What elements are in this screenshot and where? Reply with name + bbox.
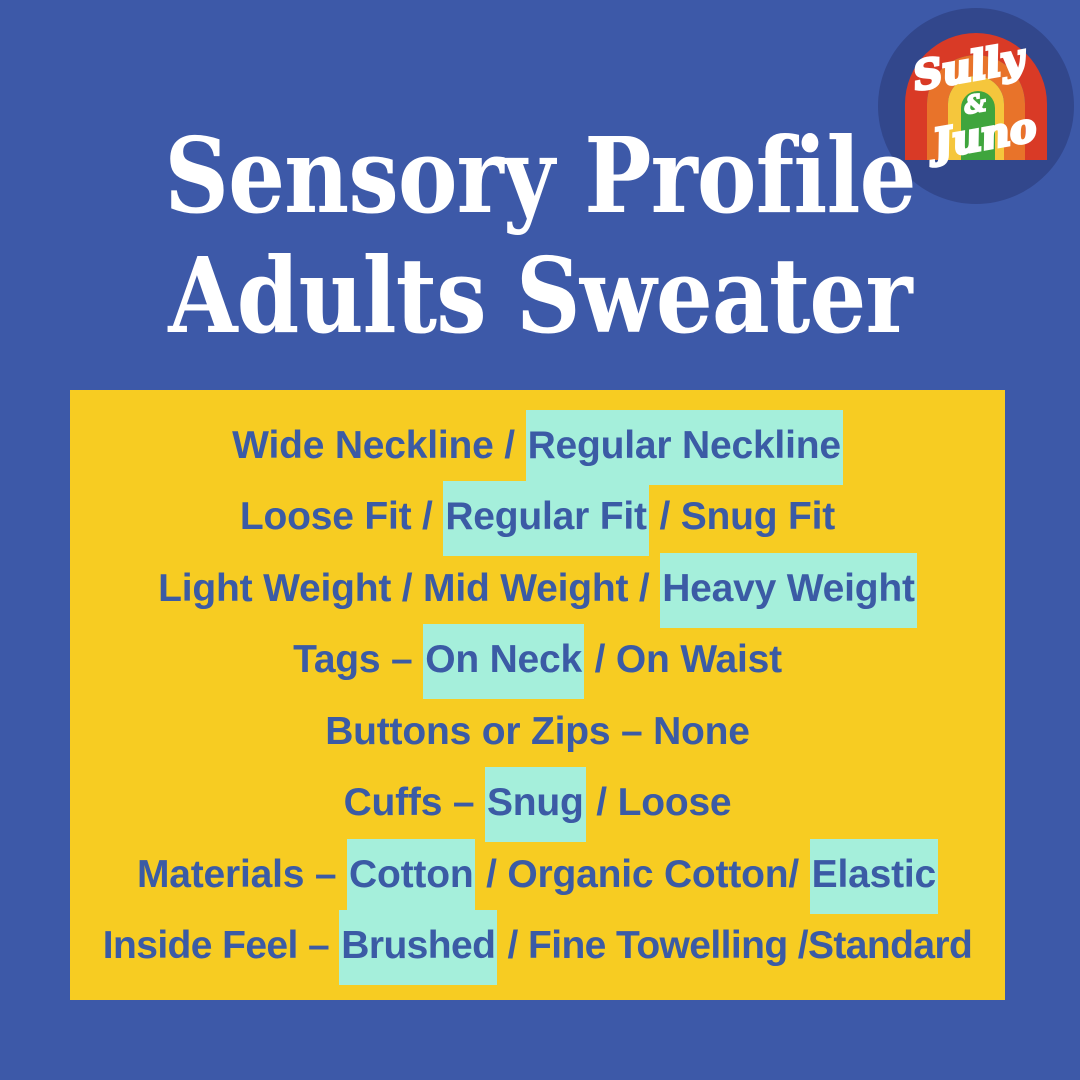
spec-option-text: / Snug Fit <box>649 495 835 538</box>
spec-option-text: Light Weight / Mid Weight / <box>158 567 660 610</box>
spec-option-text: Inside Feel – <box>103 924 340 967</box>
spec-row-neckline: Wide Neckline / Regular Neckline <box>70 424 1005 468</box>
spec-selected-option: Regular Neckline <box>526 410 843 485</box>
spec-option-text: Wide Neckline / <box>232 424 525 467</box>
spec-selected-option: Snug <box>485 767 586 842</box>
spec-option-text: Loose Fit / <box>240 495 443 538</box>
spec-option-text: Tags – <box>293 638 423 681</box>
page-title: Sensory Profile Adults Sweater <box>76 116 1005 356</box>
spec-selected-option: Brushed <box>339 910 497 985</box>
sensory-spec-panel: Wide Neckline / Regular NecklineLoose Fi… <box>70 390 1005 1000</box>
spec-option-text: / Fine Towelling /Standard <box>497 924 972 967</box>
spec-row-materials: Materials – Cotton / Organic Cotton/ Ela… <box>70 853 1005 897</box>
spec-option-text: Materials – <box>137 853 347 896</box>
page-title-line-1: Sensory Profile <box>76 116 1005 236</box>
spec-selected-option: Heavy Weight <box>660 553 917 628</box>
spec-selected-option: Cotton <box>347 839 475 914</box>
spec-selected-option: Regular Fit <box>443 481 648 556</box>
spec-option-text: Cuffs – <box>344 781 485 824</box>
spec-option-text: / Organic Cotton/ <box>475 853 809 896</box>
page-title-line-2: Adults Sweater <box>76 236 1005 356</box>
spec-row-tags: Tags – On Neck / On Waist <box>70 638 1005 682</box>
spec-row-fit: Loose Fit / Regular Fit / Snug Fit <box>70 495 1005 539</box>
spec-option-text: / Loose <box>586 781 732 824</box>
sensory-spec-list: Wide Neckline / Regular NecklineLoose Fi… <box>70 390 1005 1000</box>
spec-option-text: Buttons or Zips – None <box>325 710 750 753</box>
spec-row-inside-feel: Inside Feel – Brushed / Fine Towelling /… <box>70 924 1005 968</box>
spec-row-weight: Light Weight / Mid Weight / Heavy Weight <box>70 567 1005 611</box>
spec-option-text: / On Waist <box>584 638 782 681</box>
spec-selected-option: Elastic <box>810 839 938 914</box>
spec-row-cuffs: Cuffs – Snug / Loose <box>70 781 1005 825</box>
spec-row-buttons-or-zips: Buttons or Zips – None <box>70 710 1005 754</box>
spec-selected-option: On Neck <box>423 624 584 699</box>
